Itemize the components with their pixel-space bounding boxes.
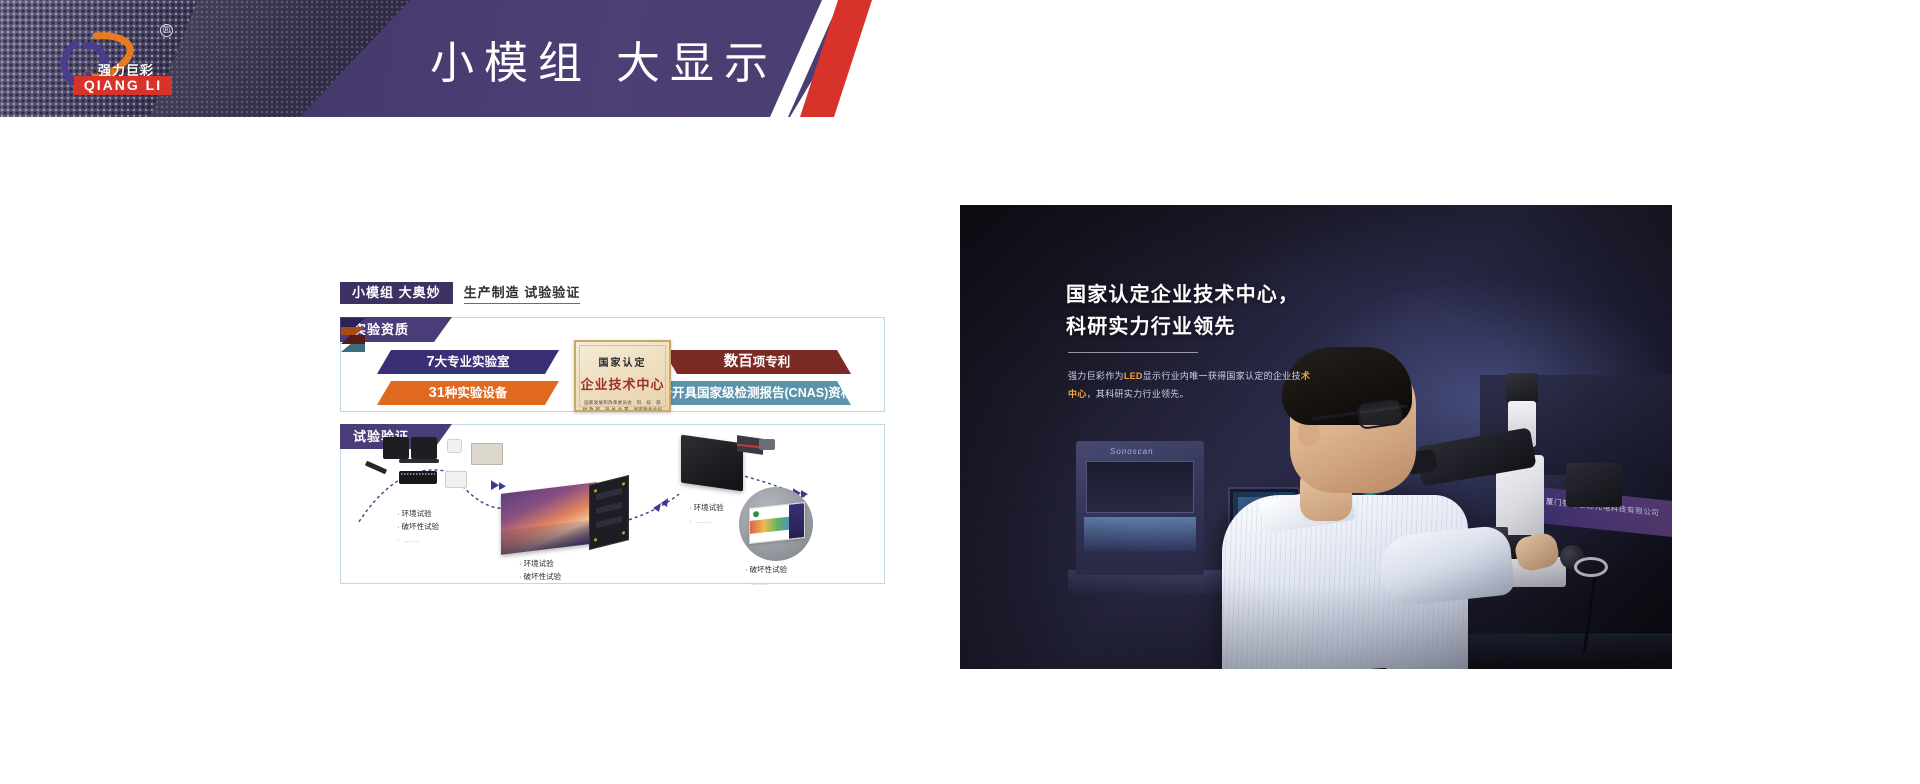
- qualification-body: 7大专业实验室 31种实验设备 数百项专利 具备开具国家级检测报告(CNAS)资…: [341, 318, 884, 411]
- photo-heading-line-2: 科研实力行业领先: [1066, 311, 1299, 343]
- power-supply-bolt: [759, 439, 775, 450]
- logo-english-name: QIANG LI: [74, 76, 172, 95]
- breadcrumb: 小模组 大奥妙 生产制造 试验验证: [340, 282, 885, 304]
- verification-flow: · 环境试验 · 破坏性试验 · …… · 环境试验 ·: [341, 425, 884, 583]
- component-screw: [365, 461, 387, 475]
- flow-label-components: · 环境试验 · 破坏性试验 · ……: [397, 507, 439, 546]
- ribbon-labs: 7大专业实验室: [377, 350, 559, 374]
- ribbon-patents: 数百项专利: [663, 350, 851, 374]
- component-led-package: [445, 471, 467, 488]
- product-carton: [749, 502, 805, 544]
- component-led-small: [447, 439, 462, 453]
- registered-trademark-icon: ®: [160, 24, 173, 37]
- lab-photo-panel: Sonoscan Q 厦门强力巨彩光电科技有限公司: [960, 205, 1672, 669]
- flow-label-module: · 环境试验 · 破坏性试验: [519, 557, 561, 583]
- photo-vignette: [960, 205, 1672, 669]
- body-prefix: 强力巨彩作为: [1068, 371, 1124, 381]
- component-connector-b: [411, 437, 437, 459]
- led-display-screen: [501, 482, 597, 555]
- certificate-line-2: 企业技术中心: [576, 374, 669, 393]
- company-logo[interactable]: ® 强力巨彩 QIANG LI: [52, 20, 177, 98]
- flow-label-packaging: · 破坏性试验 · ……: [745, 563, 787, 589]
- photo-heading: 国家认定企业技术中心， 科研实力行业领先: [1066, 279, 1299, 344]
- carton-side-face: [789, 503, 804, 539]
- verification-panel: 试验验证: [340, 424, 885, 584]
- body-highlight-led: LED: [1124, 371, 1143, 381]
- certificate-line-1: 国家认定: [576, 354, 669, 369]
- photo-heading-line-1: 国家认定企业技术中心，: [1066, 279, 1299, 311]
- power-supply-box: [681, 435, 743, 492]
- header-banner: 小模组 大显示 ® 强力巨彩 QIANG LI: [0, 0, 1020, 117]
- component-terminal-block: [471, 443, 503, 465]
- body-suffix: ，其科研实力行业领先。: [1087, 389, 1189, 399]
- ribbon-equipment-fold: [341, 327, 365, 335]
- poster-page: 小模组 大显示 ® 强力巨彩 QIANG LI 小模组 大奥妙 生产制造 试验验…: [0, 0, 1920, 784]
- qualification-panel: 实验资质 7大专业实验室 31种实验设备 数百项专利 具备开具国家级检测报告(C…: [340, 317, 885, 412]
- ribbon-equipment: 31种实验设备: [377, 381, 559, 405]
- breadcrumb-badge: 小模组 大奥妙: [340, 282, 453, 304]
- photo-body-text: 强力巨彩作为LED显示行业内唯一获得国家认定的企业技术中心，其科研实力行业领先。: [1068, 368, 1312, 403]
- carton-logo-icon: [753, 511, 759, 518]
- certificate-issuers: 国家发展和改革委员会 科 技 部财 政 部 海 关 总 署 国家税务总局: [576, 400, 669, 412]
- component-connector-a: [383, 437, 409, 459]
- ribbon-cnas-fold: [341, 344, 365, 352]
- ribbon-labs-fold: [341, 318, 365, 327]
- body-middle: 显示行业内唯一获得国家认定的企业技: [1143, 371, 1301, 381]
- national-certificate-plaque: 国家认定 企业技术中心 国家发展和改革委员会 科 技 部财 政 部 海 关 总 …: [574, 340, 671, 412]
- component-pin-header: [399, 459, 439, 463]
- page-title: 小模组 大显示: [430, 27, 778, 91]
- ribbon-patents-fold: [341, 335, 365, 344]
- led-module-back: [589, 475, 629, 550]
- photo-heading-divider: [1068, 352, 1198, 353]
- ribbon-cnas: 具备开具国家级检测报告(CNAS)资格: [647, 381, 851, 405]
- left-content-column: 小模组 大奥妙 生产制造 试验验证 实验资质 7大专业实验室 31种实验设备 数…: [340, 282, 885, 584]
- component-ic-chip: [399, 471, 437, 484]
- breadcrumb-links[interactable]: 生产制造 试验验证: [464, 282, 581, 304]
- flow-label-power-supply: · 环境试验 · ……: [689, 501, 724, 527]
